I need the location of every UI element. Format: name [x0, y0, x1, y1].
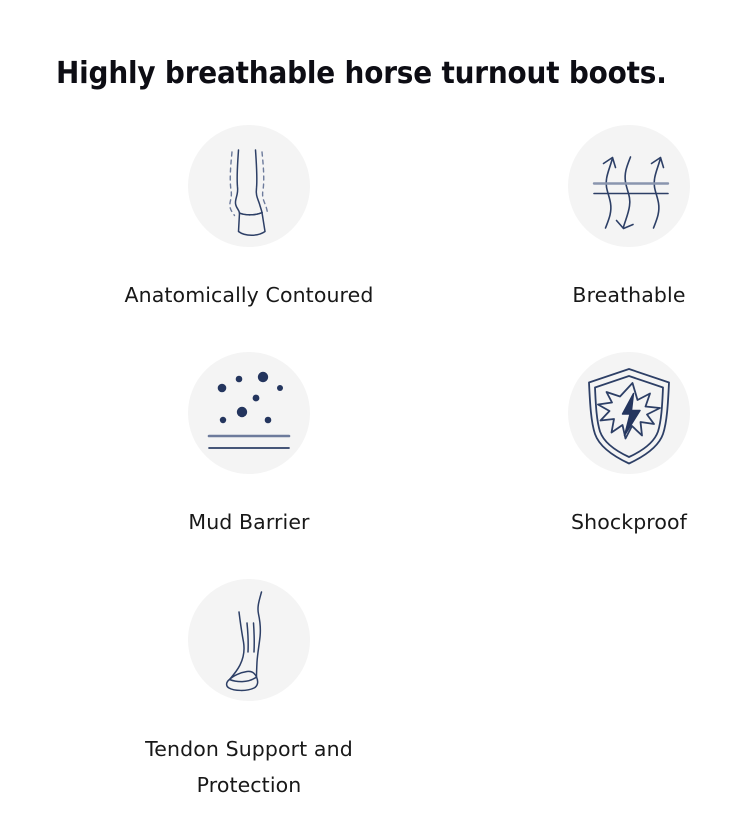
feature-label: Anatomically Contoured — [94, 277, 404, 313]
feature-item-shockproof: Shockproof — [474, 352, 748, 540]
horse-hoof-front-contour-icon — [188, 125, 310, 247]
icon-circle — [188, 579, 310, 701]
horse-leg-tendon-icon — [188, 579, 310, 701]
icon-circle — [568, 352, 690, 474]
page-title: Highly breathable horse turnout boots. — [56, 54, 670, 94]
feature-item-tendon-support-and-protection: Tendon Support and Protection — [94, 579, 404, 803]
icon-circle — [188, 352, 310, 474]
feature-label: Mud Barrier — [94, 504, 404, 540]
feature-item-mud-barrier: Mud Barrier — [94, 352, 404, 540]
shield-lightning-bolt-icon — [568, 352, 690, 474]
feature-item-anatomically-contoured: Anatomically Contoured — [94, 125, 404, 313]
feature-highlights-page: Highly breathable horse turnout boots. — [0, 0, 748, 834]
feature-label: Shockproof — [474, 504, 748, 540]
feature-label: Breathable — [474, 277, 748, 313]
mud-splatter-barrier-icon — [188, 352, 310, 474]
airflow-arrows-icon — [568, 125, 690, 247]
icon-circle — [188, 125, 310, 247]
icon-circle — [568, 125, 690, 247]
feature-label: Tendon Support and Protection — [119, 731, 379, 803]
feature-item-breathable: Breathable — [474, 125, 748, 313]
